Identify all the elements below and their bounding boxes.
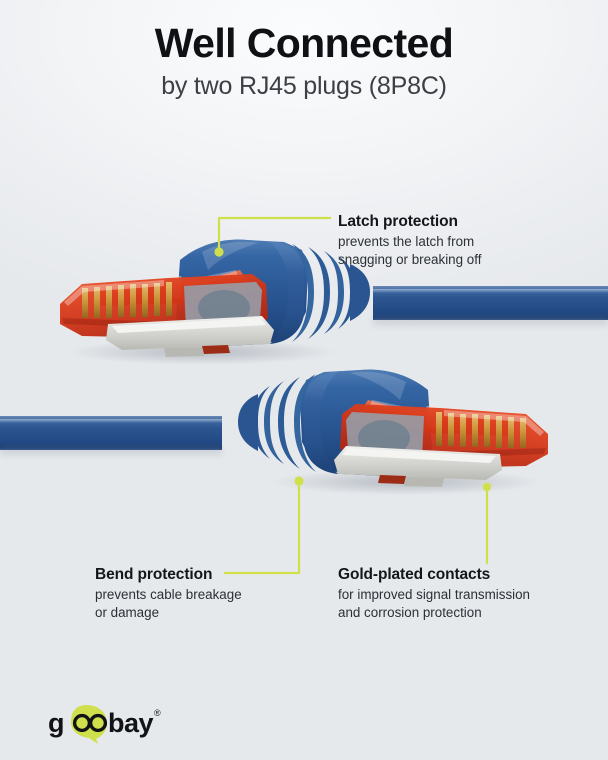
annotation-bend-protection: Bend protection prevents cable breakage … [95, 565, 305, 622]
registered-mark: ® [154, 708, 161, 718]
annotation-title: Gold-plated contacts [338, 565, 568, 584]
annotation-body: prevents cable breakage or damage [95, 586, 305, 622]
annotation-body: for improved signal transmission and cor… [338, 586, 568, 622]
cable-highlight [0, 419, 222, 423]
goobay-logo: g bay ® [42, 700, 172, 744]
page-subtitle: by two RJ45 plugs (8P8C) [0, 73, 608, 101]
annotation-latch-protection: Latch protection prevents the latch from… [338, 212, 538, 269]
annotation-gold-plated-contacts: Gold-plated contacts for improved signal… [338, 565, 568, 622]
annotation-title: Latch protection [338, 212, 538, 231]
page-title: Well Connected [0, 22, 608, 65]
cable-segment-top-right [373, 286, 608, 320]
infographic-page: Well Connected by two RJ45 plugs (8P8C) [0, 0, 608, 760]
annotation-title: Bend protection [95, 565, 305, 584]
cable-shadow [373, 317, 608, 329]
cable-segment-bottom-left [0, 416, 222, 450]
logo-wordmark: g [48, 708, 64, 738]
cable-shadow [0, 447, 222, 459]
annotation-body: prevents the latch from snagging or brea… [338, 233, 538, 269]
rj45-plug-top [52, 226, 382, 366]
logo-wordmark-tail: bay [108, 708, 154, 738]
rj45-plug-bottom [226, 356, 556, 496]
cable-highlight [373, 289, 608, 293]
header: Well Connected by two RJ45 plugs (8P8C) [0, 22, 608, 101]
